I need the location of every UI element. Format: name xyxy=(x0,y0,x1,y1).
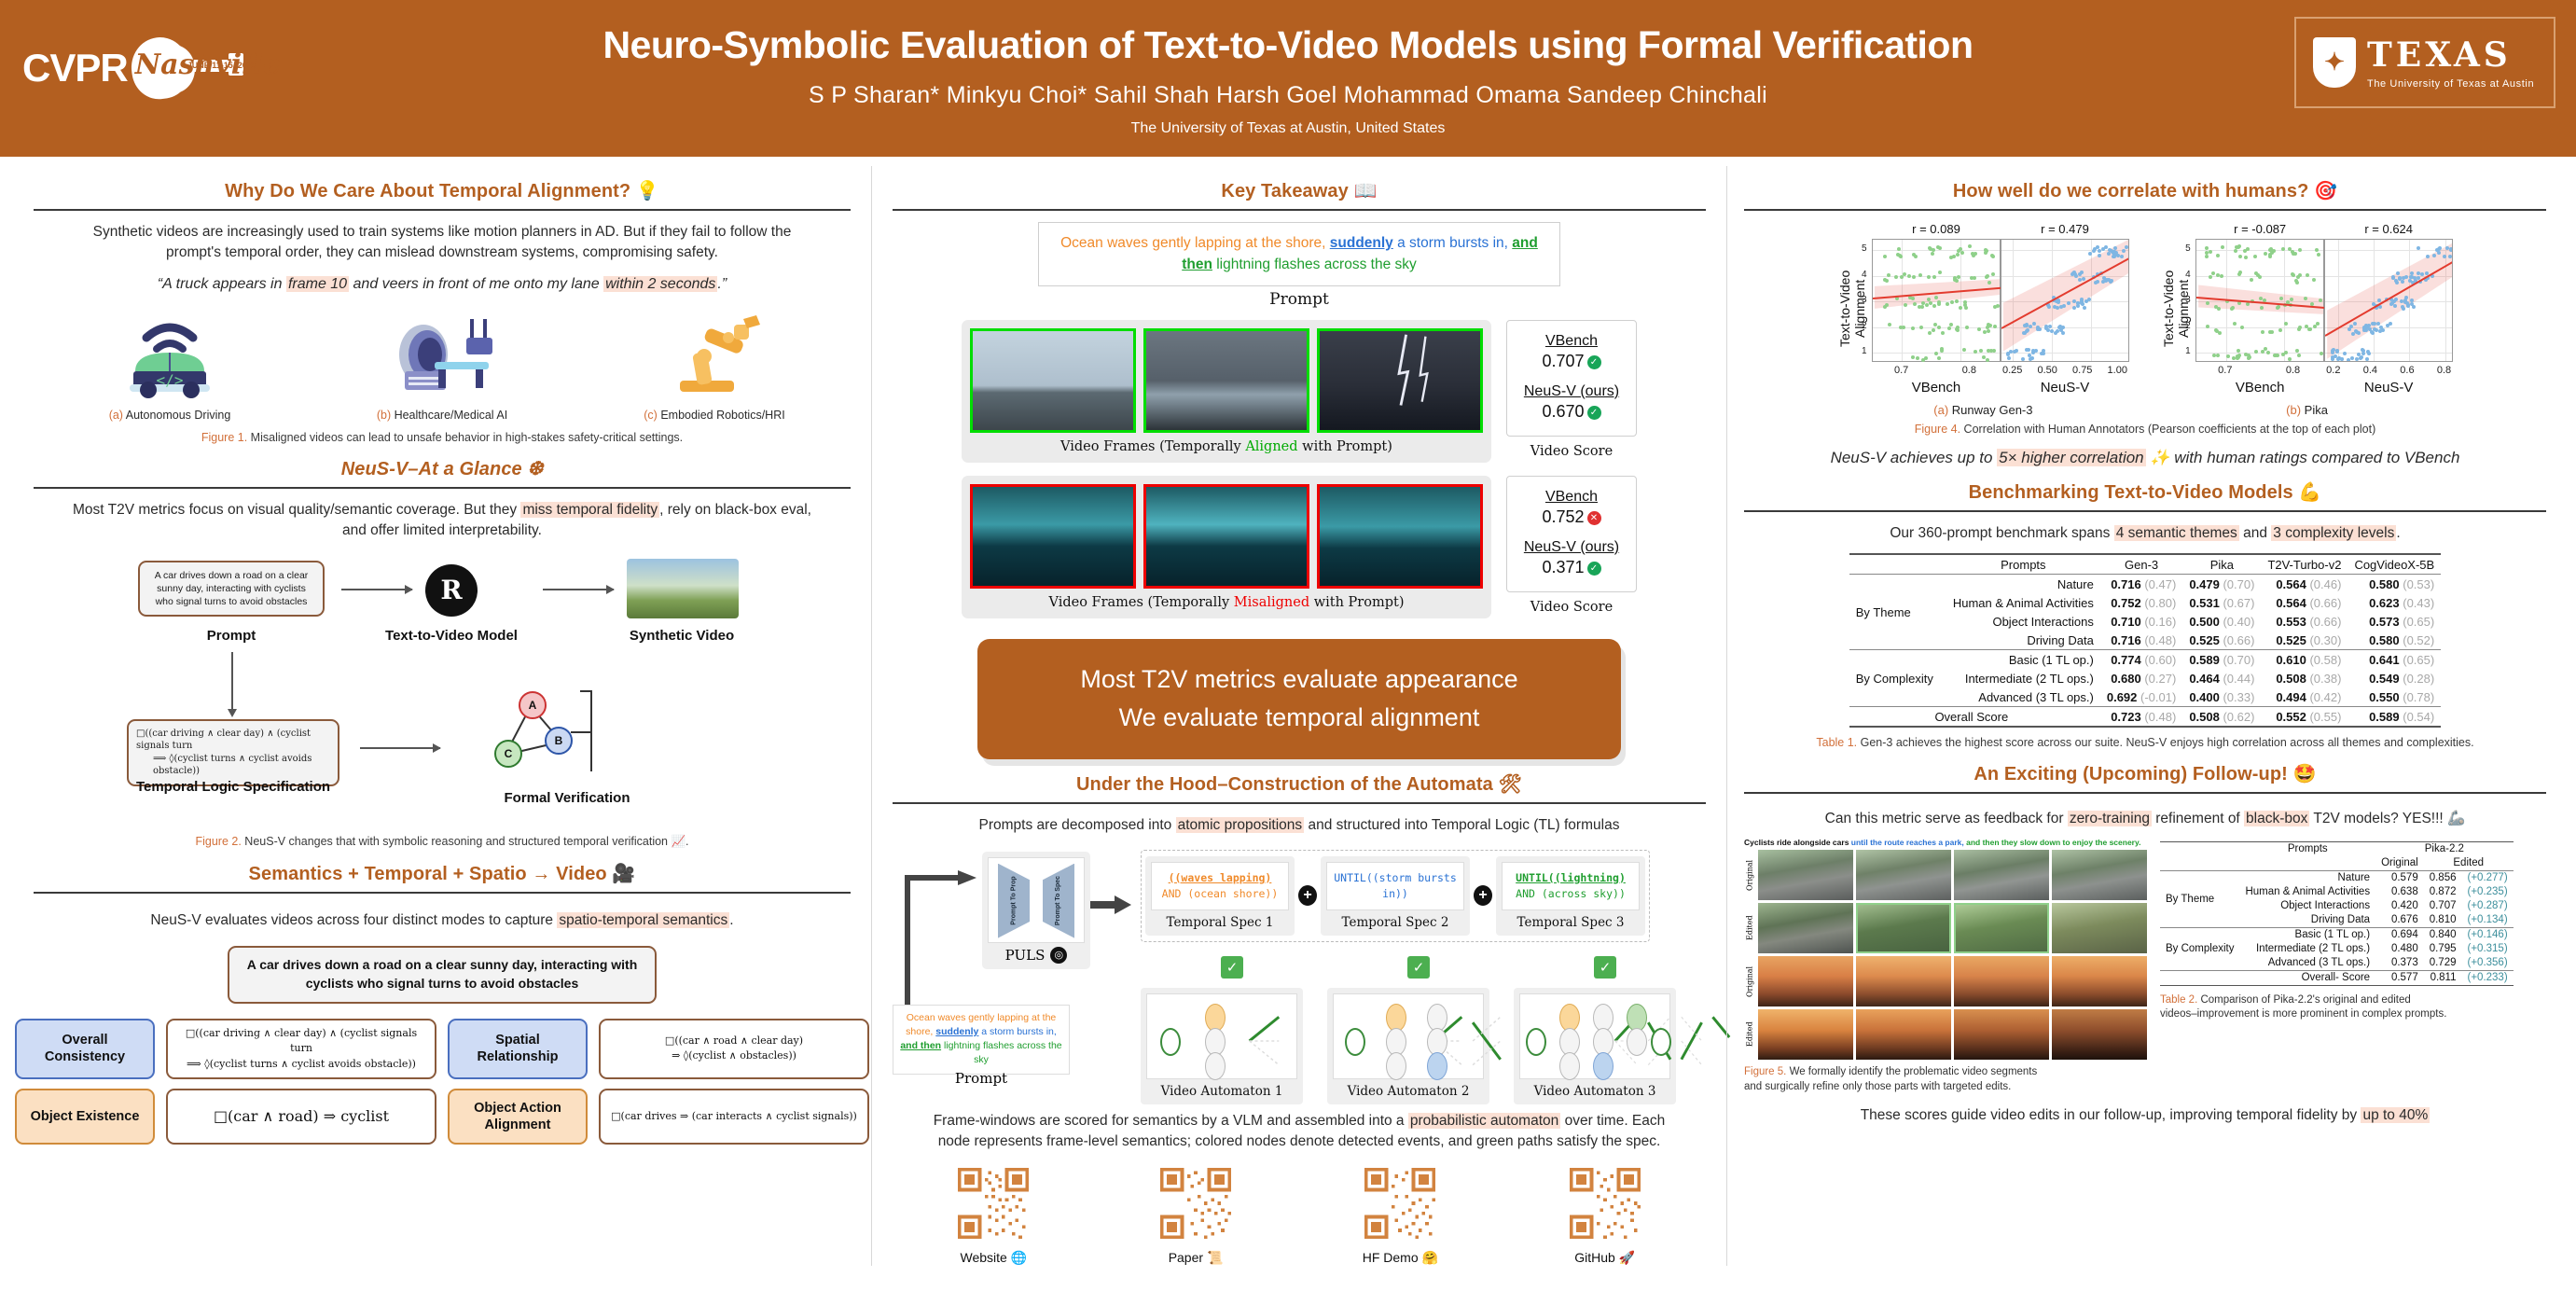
data-point xyxy=(1896,253,1900,257)
data-point xyxy=(2266,351,2270,354)
table-cell: 0.479 (0.70) xyxy=(2182,575,2261,594)
frame-aligned-3 xyxy=(1317,328,1483,433)
table2-cell-edited: 0.811 xyxy=(2424,970,2462,985)
video-automaton-2-label: Video Automaton 2 xyxy=(1333,1084,1484,1099)
mechanical-arm-icon: 🦾 xyxy=(2447,811,2465,826)
column-left: Why Do We Care About Temporal Alignment?… xyxy=(13,166,871,1266)
followup-final-note: These scores guide video edits in our fo… xyxy=(1744,1107,2546,1124)
section-title-at-a-glance: NeuS-V–At a Glance ❆ xyxy=(34,457,851,480)
data-point xyxy=(2212,354,2216,357)
temporal-spec-2: UNTIL((storm bursts in)) Temporal Spec 2 xyxy=(1321,856,1470,937)
section-title-why-temporal-alignment: Why Do We Care About Temporal Alignment?… xyxy=(34,179,851,202)
data-point xyxy=(2281,247,2285,251)
data-point xyxy=(2412,305,2416,309)
table-cell: 0.752 (0.80) xyxy=(2100,593,2182,612)
video-frame xyxy=(1856,850,1951,900)
video-frame xyxy=(2052,903,2147,953)
table-row-name: Driving Data xyxy=(1946,631,2100,650)
plot-xlabel-gen3-neusv: NeuS-V xyxy=(2001,380,2129,396)
video-row-label: Original xyxy=(1744,850,1755,900)
data-point xyxy=(2373,327,2376,331)
plot-vbench-gen3: r = 0.089 12345 0.70.8 VBench xyxy=(1872,222,2001,396)
video-grid-row-original-1: Original xyxy=(1744,850,2147,900)
mode-formula-overall-consistency: □((car driving ∧ clear day) ∧ (cyclist s… xyxy=(166,1019,436,1080)
takeaway-line-2: We evaluate temporal alignment xyxy=(987,699,1612,738)
qr-paper-icon[interactable] xyxy=(1160,1168,1231,1239)
ut-wordmark: TEXAS xyxy=(2367,35,2512,75)
plot-ytick: 2 xyxy=(2185,321,2191,331)
data-point xyxy=(1918,273,1922,277)
plot-ytick: 2 xyxy=(1862,321,1867,331)
pipeline-video-label: Synthetic Video xyxy=(593,628,770,644)
table2-row-name: Basic (1 TL op.) xyxy=(2239,927,2375,942)
data-point xyxy=(2396,271,2400,275)
data-point xyxy=(2408,279,2412,283)
check-icon: ✓ xyxy=(1587,406,1601,420)
application-item-healthcare: (b) Healthcare/Medical AI xyxy=(335,310,549,422)
frame-aligned-2 xyxy=(1143,328,1309,433)
table2-cell-delta: (+0.277) xyxy=(2462,870,2514,885)
table2-caption: Table 2. Comparison of Pika-2.2's origin… xyxy=(2160,993,2514,1022)
gridline xyxy=(2091,240,2092,361)
plot-canvas-pika-vbench: 12345 xyxy=(2195,239,2324,362)
gridline xyxy=(2001,353,2128,354)
plot-ytick: 3 xyxy=(2185,295,2191,305)
table-cell: 0.531 (0.67) xyxy=(2182,593,2261,612)
prompt-to-spec-trapezoid: Prompt To Spec xyxy=(1043,864,1074,938)
data-point xyxy=(2233,322,2237,326)
table2-cell-edited: 0.840 xyxy=(2424,927,2462,942)
table-cell: 0.550 (0.78) xyxy=(2347,687,2441,707)
qr-link-website[interactable]: Website 🌐 xyxy=(958,1168,1029,1266)
data-point xyxy=(1959,306,1962,310)
plot-neusv-gen3: r = 0.479 0.250.500.751.00 NeuS-V xyxy=(2001,222,2129,396)
data-point xyxy=(2410,271,2414,275)
column-right: How well do we correlate with humans? 🎯 … xyxy=(1726,166,2563,1266)
table2-cell-delta: (+0.146) xyxy=(2462,927,2514,942)
data-point xyxy=(2389,322,2392,326)
plot-xlabel-gen3-vbench: VBench xyxy=(1872,380,2001,396)
data-point xyxy=(2211,271,2215,275)
video-frame-selected xyxy=(1954,903,2049,953)
table-cell: 0.610 (0.58) xyxy=(2261,650,2347,670)
mri-scanner-icon xyxy=(335,310,549,399)
data-point xyxy=(2432,254,2436,257)
th2-prompts: Prompts xyxy=(2239,841,2375,856)
ut-subtitle: The University of Texas at Austin xyxy=(2367,78,2534,90)
data-point xyxy=(2288,357,2292,361)
section-title-key-takeaway: Key Takeaway 📖 xyxy=(893,179,1706,202)
data-point xyxy=(2347,358,2350,362)
table-cell: 0.464 (0.44) xyxy=(2182,669,2261,687)
data-point xyxy=(1938,271,1942,274)
table-row-name: Advanced (3 TL ops.) xyxy=(1946,687,2100,707)
data-point xyxy=(1921,358,1925,362)
benchmark-intro: Our 360-prompt benchmark spans 4 semanti… xyxy=(1744,523,2546,544)
video-row-label: Original xyxy=(1744,956,1755,1006)
pipeline-tl-spec-box: □((car driving ∧ clear day) ∧ (cyclist s… xyxy=(127,719,339,786)
table-cell: 0.716 (0.47) xyxy=(2100,575,2182,594)
table-row-name: Human & Animal Activities xyxy=(1946,593,2100,612)
table-cell: 0.710 (0.16) xyxy=(2100,612,2182,631)
table2-header-row-1: Prompts Pika-2.2 xyxy=(2160,841,2514,856)
section-divider xyxy=(1744,792,2546,794)
gridline xyxy=(1873,276,2000,277)
data-point xyxy=(2027,348,2030,352)
frame-misaligned-2 xyxy=(1143,484,1309,589)
temporal-specs-group: ((waves lapping)AND (ocean shore)) Tempo… xyxy=(1141,850,1650,943)
data-point xyxy=(2237,272,2241,276)
table2-overall-label: Overall- Score xyxy=(2160,970,2375,985)
data-point xyxy=(2032,322,2036,326)
table2-header-row-2: Original Edited xyxy=(2160,856,2514,871)
target-icon: 🎯 xyxy=(2314,181,2337,201)
frame-misaligned-1 xyxy=(970,484,1136,589)
qr-github-label[interactable]: GitHub 🚀 xyxy=(1570,1250,1641,1266)
data-point xyxy=(1982,355,1986,359)
table-cell: 0.500 (0.40) xyxy=(2182,612,2261,631)
qr-paper-label[interactable]: Paper 📜 xyxy=(1160,1250,1231,1266)
automaton-node-gray xyxy=(1627,1028,1647,1056)
misaligned-metric-1-value: 0.752✕ xyxy=(1513,507,1630,527)
data-point xyxy=(2220,274,2223,278)
data-point xyxy=(1937,326,1941,329)
table2-cell-edited: 0.729 xyxy=(2424,956,2462,971)
table2-cell-edited: 0.872 xyxy=(2424,885,2462,899)
mini-prompt-label: Prompt xyxy=(893,1070,1070,1087)
prompt-to-prop-trapezoid: Prompt To Prop xyxy=(998,864,1030,938)
table2-cell-original: 0.676 xyxy=(2375,913,2424,928)
synthetic-video-thumbnail xyxy=(627,559,739,618)
automaton-node-gray xyxy=(1559,1052,1580,1080)
data-point xyxy=(2268,255,2272,258)
qr-link-github[interactable]: GitHub 🚀 xyxy=(1570,1168,1641,1266)
key-takeaway-prompt-label: Prompt xyxy=(893,290,1706,309)
data-point xyxy=(2244,256,2248,259)
data-point xyxy=(2306,273,2309,277)
data-point xyxy=(1960,251,1964,255)
table2-cell-original: 0.480 xyxy=(2375,942,2424,956)
table-row: By ThemeNature0.716 (0.47)0.479 (0.70)0.… xyxy=(1849,575,2441,594)
section-title-text: Benchmarking Text-to-Video Models xyxy=(1969,482,2293,503)
table-cell: 0.553 (0.66) xyxy=(2261,612,2347,631)
data-point xyxy=(2238,255,2242,258)
data-point xyxy=(1897,247,1901,251)
data-point xyxy=(1883,255,1887,258)
th2-group xyxy=(2160,841,2240,856)
data-point xyxy=(2361,348,2364,352)
benchmark-highlight-themes: 4 semantic themes xyxy=(2114,525,2239,541)
quote-highlight-frame: frame 10 xyxy=(286,276,349,292)
automaton-start-node xyxy=(1526,1028,1546,1056)
data-point xyxy=(1940,349,1944,353)
figure1-caption: Figure 1. Misaligned videos can lead to … xyxy=(34,431,851,444)
section-title-text: Key Takeaway xyxy=(1221,181,1348,201)
table-cell: 0.525 (0.30) xyxy=(2261,631,2347,650)
aligned-metric-1-name: VBench xyxy=(1513,333,1630,350)
data-point xyxy=(1932,328,1935,332)
key-takeaway-prompt-card: Ocean waves gently lapping at the shore,… xyxy=(1038,222,1560,286)
temporal-spec-1-label: Temporal Spec 1 xyxy=(1151,915,1289,930)
table-cell: 0.692 (-0.01) xyxy=(2100,687,2182,707)
figure5-caption: Figure 5. We formally identify the probl… xyxy=(1744,1065,2147,1094)
data-point xyxy=(2015,349,2018,353)
data-point xyxy=(2216,273,2220,277)
section-divider xyxy=(1744,209,2546,211)
qr-hf-demo-label[interactable]: HF Demo 🤗 xyxy=(1363,1250,1438,1266)
data-point xyxy=(2292,273,2295,277)
plot-pearson-gen3-vbench: r = 0.089 xyxy=(1872,222,2001,236)
video-frame xyxy=(1758,1009,1853,1060)
automaton-node-gray xyxy=(1386,1052,1406,1080)
why-paragraph-line2: prompt's temporal order, they can mislea… xyxy=(166,244,718,260)
data-point xyxy=(1962,348,1966,352)
four-modes-block: A car drives down a road on a clear sunn… xyxy=(34,946,851,1145)
temporal-spec-3-label: Temporal Spec 3 xyxy=(1502,915,1640,930)
data-point xyxy=(1938,246,1942,250)
table-cell: 0.525 (0.66) xyxy=(2182,631,2261,650)
data-point xyxy=(1986,358,1989,362)
check-icon-spec-2: ✓ xyxy=(1407,956,1430,979)
data-point xyxy=(2264,252,2267,256)
check-icon-spec-1: ✓ xyxy=(1221,956,1243,979)
data-point xyxy=(2355,357,2359,361)
data-point xyxy=(1907,274,1911,278)
data-point xyxy=(1916,356,1919,360)
data-point xyxy=(2237,349,2240,353)
mode-chip-object-action-alignment: Object Action Alignment xyxy=(448,1089,588,1145)
video-automaton-1-graph xyxy=(1146,993,1297,1079)
video-frame xyxy=(1758,956,1853,1006)
data-point xyxy=(2366,350,2370,354)
scroll-icon: 📜 xyxy=(1207,1250,1223,1265)
data-point xyxy=(1914,255,1918,258)
plot-pair-pika: Text-to-Video Alignment r = -0.087 12345… xyxy=(2161,222,2453,396)
takeaway-banner: Most T2V metrics evaluate appearance We … xyxy=(977,639,1621,760)
data-point xyxy=(1929,301,1932,305)
data-point xyxy=(1983,330,1987,334)
pipeline-verification-label: Formal Verification xyxy=(455,790,679,806)
author-list: S P Sharan* Minkyu Choi* Sahil Shah Hars… xyxy=(602,82,1973,109)
video-edit-grid: Cyclists ride alongside cars until the r… xyxy=(1744,838,2147,1060)
data-point xyxy=(2061,326,2065,329)
gridline xyxy=(2196,250,2323,251)
data-point xyxy=(2061,331,2065,335)
video-frame xyxy=(1758,850,1853,900)
movie-camera-icon: 🎥 xyxy=(612,864,635,884)
video-row-label: Edited xyxy=(1744,903,1755,953)
data-point xyxy=(2365,357,2369,361)
video-row-label: Edited xyxy=(1744,1009,1755,1060)
guitar-icon: Nashville JUNE 11-15, 2025 xyxy=(132,35,243,101)
video-automaton-3-graph xyxy=(1519,993,1670,1079)
video-grid-row-edited-2: Edited xyxy=(1744,1009,2147,1060)
table2-body: By ThemeNature0.5790.856(+0.277)Human & … xyxy=(2160,870,2514,985)
plot-subcaption-pika: (b) Pika xyxy=(2161,403,2453,417)
data-point xyxy=(1946,302,1949,306)
pipeline-spec-label: Temporal Logic Specification xyxy=(101,779,366,795)
data-point xyxy=(2349,325,2353,328)
table2-cell-original: 0.420 xyxy=(2375,899,2424,913)
automata-description: Frame-windows are scored for semantics b… xyxy=(893,1111,1706,1153)
section-title-text: How well do we correlate with humans? xyxy=(1953,181,2309,201)
section-divider xyxy=(1744,510,2546,512)
application-item-ad: </> (a) Autonomous Driving xyxy=(62,310,277,422)
table-cell: 0.400 (0.33) xyxy=(2182,687,2261,707)
automaton-node-gray xyxy=(1205,1052,1226,1080)
takeaway-line-1: Most T2V metrics evaluate appearance xyxy=(987,660,1612,700)
data-point xyxy=(2235,245,2238,249)
data-point xyxy=(2351,332,2355,336)
table2-cell-original: 0.579 xyxy=(2375,870,2424,885)
th-t2vturbo: T2V-Turbo-v2 xyxy=(2261,554,2347,575)
data-point xyxy=(1965,326,1969,329)
modes-grid: Overall Consistency □((car driving ∧ cle… xyxy=(34,1019,851,1145)
table-cell: 0.552 (0.55) xyxy=(2261,707,2347,728)
data-point xyxy=(2360,355,2363,359)
cross-icon: ✕ xyxy=(1587,511,1601,525)
followup-highlight-black-box: black-box xyxy=(2244,811,2309,826)
globe-icon: 🌐 xyxy=(1011,1250,1027,1265)
table-cell: 0.623 (0.43) xyxy=(2347,593,2441,612)
data-point xyxy=(2067,301,2070,305)
cvpr-dates-text: JUNE 11-15, 2025 xyxy=(187,61,256,70)
data-point xyxy=(2394,298,2398,301)
data-point xyxy=(2056,306,2059,310)
check-icon: ✓ xyxy=(1587,355,1601,369)
data-point xyxy=(2281,353,2285,356)
data-point xyxy=(2050,329,2054,333)
table2-cell-delta: (+0.287) xyxy=(2462,899,2514,913)
data-point xyxy=(1987,323,1990,326)
temporal-spec-2-formula: UNTIL((storm bursts in)) xyxy=(1326,862,1464,911)
data-point xyxy=(1970,276,1974,280)
aligned-metric-2-value: 0.670✓ xyxy=(1513,402,1630,422)
data-point xyxy=(2316,322,2320,326)
plot-xticks-pika-vbench: 0.70.8 xyxy=(2195,365,2324,376)
data-point xyxy=(2273,354,2277,357)
misaligned-metric-1-name: VBench xyxy=(1513,489,1630,506)
mode-formula-spatial-relationship: □((car ∧ road ∧ clear day)⇒ ◊(cyclist ∧ … xyxy=(599,1019,869,1080)
hugging-face-icon: 🤗 xyxy=(1422,1250,1438,1265)
data-point xyxy=(1911,326,1915,330)
sparkles-icon: ✨ xyxy=(2146,449,2170,466)
data-point xyxy=(1894,275,1898,279)
sparkle-icon: ❆ xyxy=(527,459,543,479)
arrow-spec-to-verification xyxy=(360,747,440,749)
data-point xyxy=(2261,330,2264,334)
data-point xyxy=(2297,354,2301,357)
data-point xyxy=(2284,351,2288,354)
section-divider xyxy=(34,892,851,894)
followup-content: Cyclists ride alongside cars until the r… xyxy=(1744,838,2546,1094)
qr-github-icon[interactable] xyxy=(1570,1168,1641,1239)
aligned-frames xyxy=(970,328,1483,433)
table-cell: 0.494 (0.42) xyxy=(2261,687,2347,707)
section-title-text: Why Do We Care About Temporal Alignment? xyxy=(225,181,630,201)
data-point xyxy=(2098,254,2101,257)
book-icon: 📖 xyxy=(1354,181,1378,201)
qr-website-label[interactable]: Website 🌐 xyxy=(958,1250,1029,1266)
video-row-frames xyxy=(1758,956,2147,1006)
data-point xyxy=(1941,331,1945,335)
modes-highlight: spatio-temporal semantics xyxy=(557,912,729,928)
data-point xyxy=(2420,272,2424,276)
data-point xyxy=(2206,325,2209,328)
data-point xyxy=(1911,297,1915,300)
data-point xyxy=(2022,331,2026,335)
misaligned-score-block: VBench 0.752✕ NeuS-V (ours) 0.371✓ Video… xyxy=(1506,476,1637,615)
poster-root: CVPR Nashville JUNE 11-15, 2025 Neuro-Sy… xyxy=(0,0,2576,1291)
data-point xyxy=(2226,354,2230,358)
data-point xyxy=(2294,279,2298,283)
gridline xyxy=(1960,240,1961,361)
plot-neusv-pika: r = 0.624 0.20.40.60.8 NeuS-V xyxy=(2324,222,2453,396)
data-point xyxy=(2335,350,2339,354)
table2-cell-original: 0.577 xyxy=(2375,970,2424,985)
table-group-label: By Theme xyxy=(1849,575,1946,650)
data-point xyxy=(2254,350,2258,354)
table2-cell-delta: (+0.356) xyxy=(2462,956,2514,971)
data-point xyxy=(2247,354,2251,357)
video-frame xyxy=(1954,850,2049,900)
affiliation: The University of Texas at Austin, Unite… xyxy=(602,120,1973,137)
data-point xyxy=(2101,280,2105,284)
puls-module: Prompt To Prop Prompt To Spec PULS ◎ xyxy=(982,852,1090,969)
data-point xyxy=(2078,272,2082,276)
section-divider xyxy=(893,209,1706,211)
table-cell: 0.508 (0.38) xyxy=(2261,669,2347,687)
gridline xyxy=(2325,250,2452,251)
data-point xyxy=(1928,331,1932,335)
data-point xyxy=(2350,356,2354,360)
data-point xyxy=(2340,357,2344,361)
qr-link-hf-demo[interactable]: HF Demo 🤗 xyxy=(1363,1168,1438,1266)
table-cell: 0.580 (0.53) xyxy=(2347,575,2441,594)
data-point xyxy=(1927,275,1931,279)
robot-arm-icon xyxy=(607,310,822,399)
table2-cell-delta: (+0.233) xyxy=(2462,970,2514,985)
lightbulb-icon: 💡 xyxy=(636,181,659,201)
plot-ytick: 1 xyxy=(1862,346,1867,356)
frame-misaligned-3 xyxy=(1317,484,1483,589)
qr-hf-demo-icon[interactable] xyxy=(1364,1168,1435,1239)
data-point xyxy=(2291,250,2294,254)
plot-ytick: 4 xyxy=(2185,270,2191,280)
svg-text:</>: </> xyxy=(157,371,184,389)
muscle-icon: 💪 xyxy=(2298,482,2321,503)
data-point xyxy=(2298,248,2302,252)
figure2-caption: Figure 2. NeuS-V changes that with symbo… xyxy=(34,835,851,849)
openai-icon: ◎ xyxy=(1050,947,1067,964)
verification-node-c: C xyxy=(494,740,522,768)
video-frame xyxy=(2052,956,2147,1006)
qr-link-paper[interactable]: Paper 📜 xyxy=(1160,1168,1231,1266)
aligned-score-card: VBench 0.707✓ NeuS-V (ours) 0.670✓ xyxy=(1506,320,1637,437)
qr-website-icon[interactable] xyxy=(958,1168,1029,1239)
th-cogvideox: CogVideoX-5B xyxy=(2347,554,2441,575)
table-cell: 0.564 (0.66) xyxy=(2261,593,2347,612)
section-divider xyxy=(34,209,851,211)
example-quote: “A truck appears in frame 10 and veers i… xyxy=(34,276,851,293)
correlation-plot-group-pika: Text-to-Video Alignment r = -0.087 12345… xyxy=(2161,222,2453,417)
table2-row-name: Driving Data xyxy=(2239,913,2375,928)
section-title-text: Semantics + Temporal + Spatio → Video xyxy=(249,864,607,884)
data-point xyxy=(2092,249,2096,253)
pipeline-model-label: Text-to-Video Model xyxy=(377,628,526,644)
cvpr-logo: CVPR Nashville JUNE 11-15, 2025 xyxy=(22,35,243,101)
table2-row-name: Advanced (3 TL ops.) xyxy=(2239,956,2375,971)
